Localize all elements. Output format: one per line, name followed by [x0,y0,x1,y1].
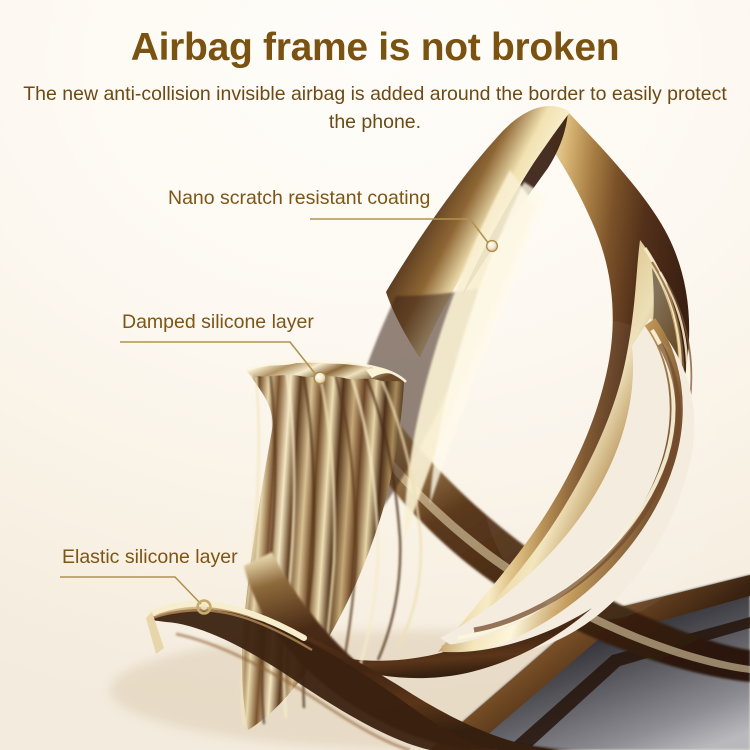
marker-nano-coating [487,241,498,252]
callout-label-elastic-silicone: Elastic silicone layer [62,545,238,569]
page-title: Airbag frame is not broken [0,25,750,71]
callout-label-damped-silicone: Damped silicone layer [122,310,314,334]
callout-label-nano-coating: Nano scratch resistant coating [168,186,430,210]
product-infographic: Airbag frame is not broken The new anti-… [0,0,750,750]
leader-line-elastic [60,577,201,604]
marker-damped-silicone [314,372,326,384]
page-subtitle: The new anti-collision invisible airbag … [10,80,740,136]
